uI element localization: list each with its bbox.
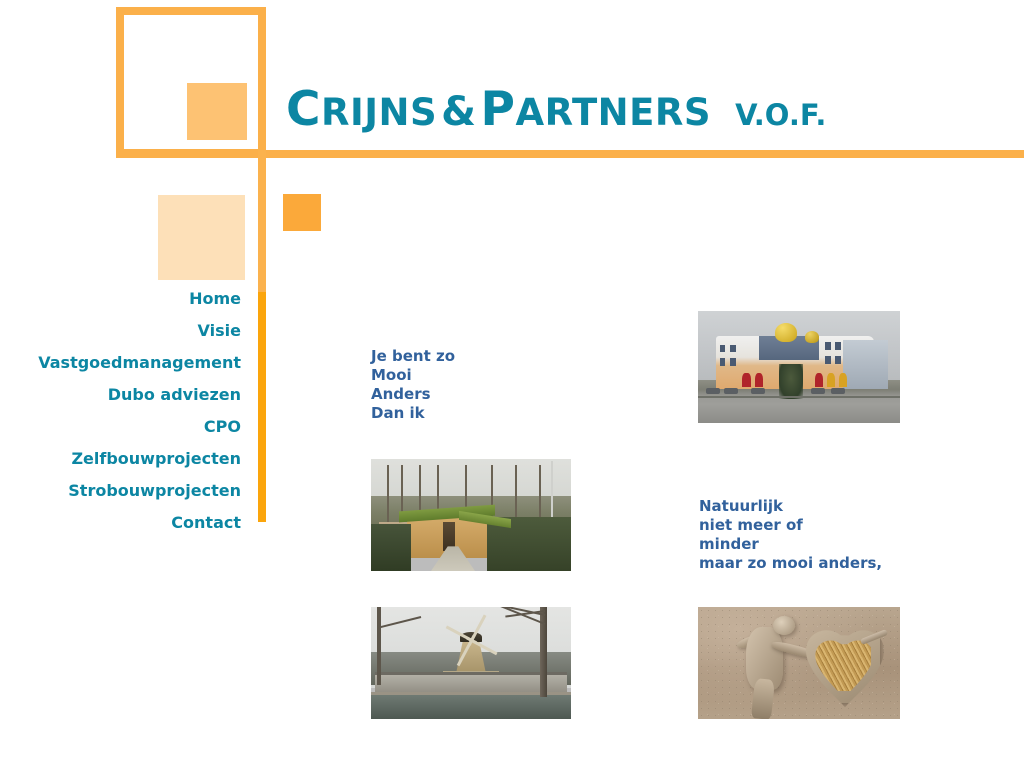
- logo-inner-square: [187, 83, 247, 140]
- window: [835, 356, 840, 364]
- sidebar-item-zelfbouwprojecten[interactable]: Zelfbouwprojecten: [0, 443, 241, 475]
- site-title-initial-c: C: [286, 82, 321, 137]
- photo-clay-straw-relief: [698, 607, 900, 719]
- main-navigation: Home Visie Vastgoedmanagement Dubo advie…: [0, 283, 241, 539]
- site-title-rest-crijns: RIJNS: [321, 91, 437, 134]
- site-title-ampersand: &: [437, 89, 480, 135]
- poem-text-right: Natuurlijk niet meer of minder maar zo m…: [699, 497, 882, 573]
- guard-rail: [698, 396, 900, 398]
- golden-dome-small: [805, 331, 819, 343]
- canal-water: [371, 695, 571, 719]
- sidebar-item-dubo-adviezen[interactable]: Dubo adviezen: [0, 379, 241, 411]
- sidebar-spine-lower: [258, 292, 266, 522]
- window: [730, 345, 735, 353]
- window: [720, 358, 725, 366]
- parked-car: [751, 388, 765, 394]
- parked-car: [831, 388, 845, 394]
- sidebar-item-strobouwprojecten[interactable]: Strobouwprojecten: [0, 475, 241, 507]
- sidebar-item-visie[interactable]: Visie: [0, 315, 241, 347]
- content-accent-square: [283, 194, 321, 231]
- archway-red: [815, 373, 823, 388]
- window: [825, 342, 830, 350]
- window: [730, 358, 735, 366]
- header-horizontal-rule: [116, 150, 1024, 158]
- sidebar-item-contact[interactable]: Contact: [0, 507, 241, 539]
- golden-dome-large: [775, 323, 797, 342]
- archway-yellow: [839, 373, 847, 388]
- sidebar-pale-square: [158, 195, 245, 280]
- site-title: CRIJNS&PARTNERSV.O.F.: [286, 86, 826, 133]
- poem-text-left: Je bent zo Mooi Anders Dan ik: [371, 347, 455, 423]
- hedge-left: [371, 524, 411, 571]
- sidebar-item-home[interactable]: Home: [0, 283, 241, 315]
- parked-car: [811, 388, 825, 394]
- figure-head: [773, 616, 795, 635]
- sidebar-item-vastgoedmanagement[interactable]: Vastgoedmanagement: [0, 347, 241, 379]
- building-right: [843, 340, 887, 389]
- sidebar-item-cpo[interactable]: CPO: [0, 411, 241, 443]
- utility-pole: [551, 461, 553, 517]
- parked-car: [706, 388, 720, 394]
- archway-yellow: [827, 373, 835, 388]
- site-title-suffix-vof: V.O.F.: [711, 98, 826, 132]
- window: [720, 345, 725, 353]
- site-title-rest-partners: ARTNERS: [515, 91, 711, 134]
- window: [835, 342, 840, 350]
- tree-foreground: [779, 364, 803, 400]
- bare-tree-left: [377, 607, 381, 685]
- photo-hundertwasser-building: [698, 311, 900, 423]
- archway-red: [755, 373, 763, 388]
- sidebar-spine-upper: [258, 150, 266, 292]
- parked-car: [724, 388, 738, 394]
- road-layer: [698, 405, 900, 423]
- photo-green-roof-house: [371, 459, 571, 571]
- figure-leg: [750, 678, 774, 719]
- photo-dutch-windmill: [371, 607, 571, 719]
- site-title-initial-p: P: [481, 82, 516, 137]
- archway-red: [742, 373, 750, 388]
- window: [825, 356, 830, 364]
